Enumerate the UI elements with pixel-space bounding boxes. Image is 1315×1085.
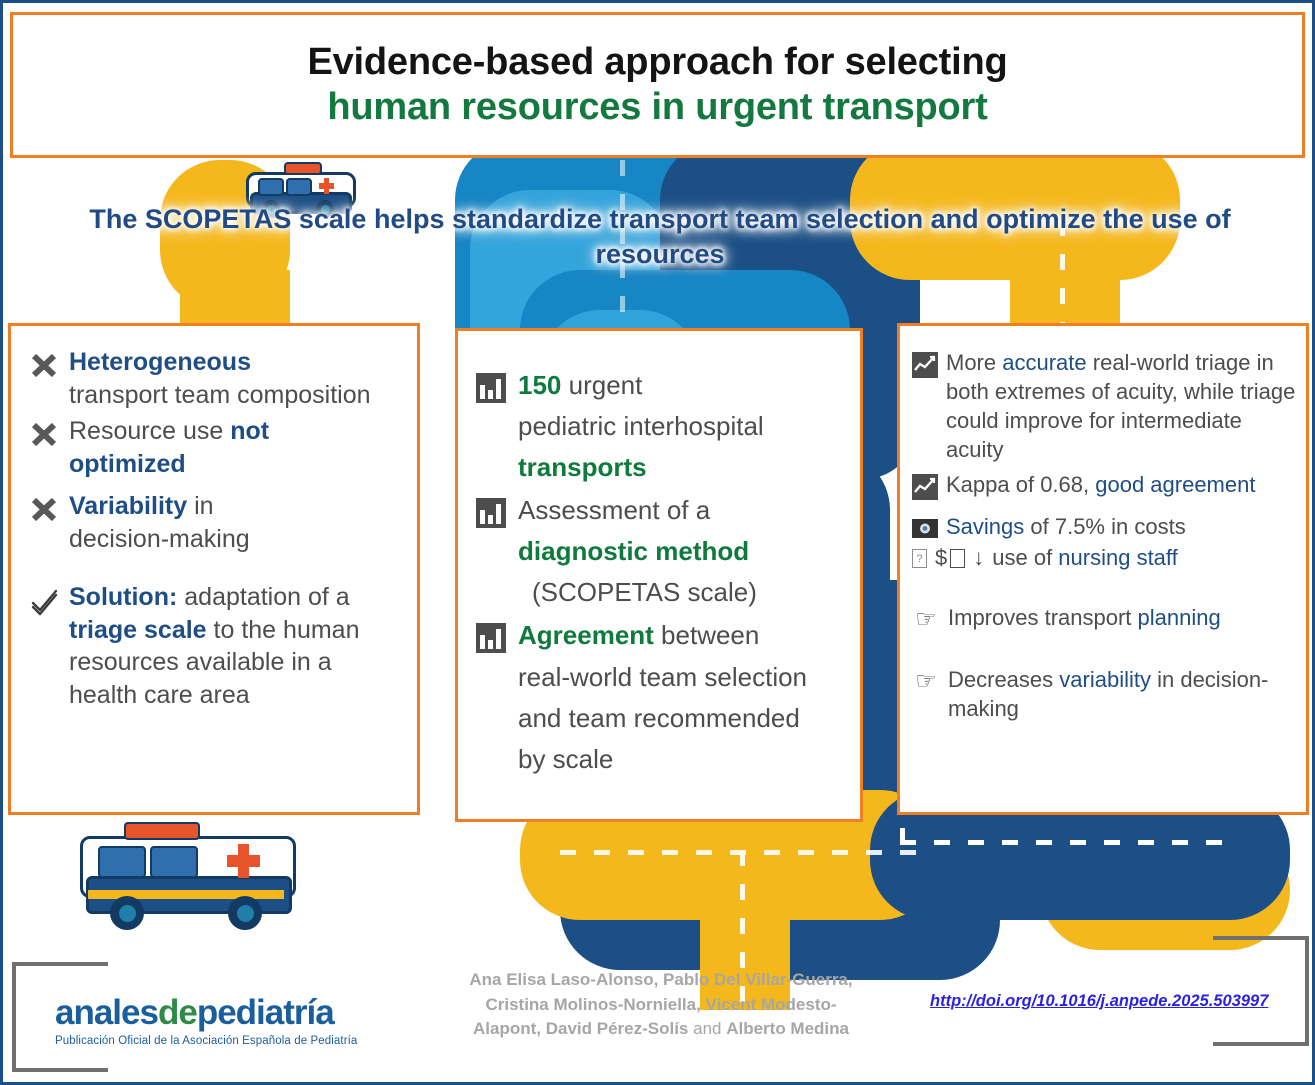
item-line-2: pediatric interhospital — [518, 411, 764, 441]
item-bold-text: Agreement — [518, 620, 654, 650]
item-line-3: transports — [518, 452, 647, 482]
logo-part-anales: anales — [55, 993, 158, 1032]
list-item: ☞ Decreases variability in decision-maki… — [912, 665, 1296, 723]
logo-part-de: de — [158, 993, 197, 1032]
bracket-decoration-right — [1213, 936, 1309, 1046]
item-highlight-text: variability — [1059, 667, 1151, 692]
bar-chart-icon — [476, 623, 506, 653]
item-pre-text: Decreases — [948, 667, 1059, 692]
journal-logo-subtitle: Publicación Oficial de la Asociación Esp… — [55, 1035, 357, 1047]
item-pre-text: Improves transport — [948, 605, 1138, 630]
authors-last: Alberto Medina — [726, 1019, 849, 1038]
item-highlight-text: planning — [1138, 605, 1221, 630]
panel-methods: 150 urgentpediatric interhospitaltranspo… — [455, 328, 863, 822]
item-pre-text: More — [946, 350, 1002, 375]
list-item-text: Heterogeneoustransport team composition — [69, 346, 405, 411]
money-icon — [912, 519, 938, 538]
list-item-text: More accurate real-world triage in both … — [946, 348, 1296, 464]
list-item-text: Improves transport planning — [948, 603, 1296, 632]
ambulance-illustration-bottom — [70, 818, 310, 938]
count-value: 150 — [518, 370, 561, 400]
list-item: Resource use notoptimized — [29, 415, 405, 480]
solution-item: Solution: adaptation of a triage scale t… — [29, 581, 405, 711]
item-line-2: optimized — [69, 450, 186, 478]
list-item: ☞ Improves transport planning — [912, 603, 1296, 633]
list-item-text: Assessment of adiagnostic method(SCOPETA… — [518, 490, 846, 613]
pointing-hand-icon: ☞ — [912, 607, 940, 633]
list-item-text: Decreases variability in decision-making — [948, 665, 1296, 723]
list-item-text: Savings of 7.5% in costs — [946, 512, 1296, 541]
solution-label: Solution: — [69, 583, 177, 611]
item-line-2: transport team composition — [69, 381, 371, 409]
list-item: 150 urgentpediatric interhospitaltranspo… — [476, 365, 846, 488]
currency-glyph-icon: $ — [935, 545, 965, 571]
line-chart-icon — [912, 352, 938, 378]
list-item: Assessment of adiagnostic method(SCOPETA… — [476, 490, 846, 613]
authors-list: Ana Elisa Laso-Alonso, Pablo Del Villar-… — [466, 968, 856, 1042]
list-item-text: 150 urgentpediatric interhospitaltranspo… — [518, 365, 846, 488]
item-line-2: diagnostic method — [518, 536, 749, 566]
solution-text-a: adaptation of a — [177, 583, 349, 611]
item-bold-text: Variability — [69, 492, 187, 520]
list-item-text: Variability indecision-making — [69, 490, 405, 555]
list-item: Savings of 7.5% in costs — [912, 512, 1296, 541]
journal-logo: analesdepediatría Publicación Oficial de… — [55, 995, 357, 1047]
list-item: Variability indecision-making — [29, 490, 405, 555]
title-box: Evidence-based approach for selecting hu… — [10, 12, 1305, 158]
panel-results: More accurate real-world triage in both … — [897, 323, 1309, 815]
list-item: More accurate real-world triage in both … — [912, 348, 1296, 464]
bar-chart-icon — [476, 498, 506, 528]
bar-chart-icon — [476, 373, 506, 403]
item-highlight-text: nursing staff — [1058, 545, 1177, 570]
item-highlight-text: Savings — [946, 514, 1024, 539]
count-suffix: urgent — [561, 370, 642, 400]
list-item: Agreement betweenreal-world team selecti… — [476, 615, 846, 779]
item-pre-text: Kappa of 0.68, — [946, 472, 1095, 497]
title-line-1: Evidence-based approach for selecting — [307, 40, 1007, 85]
check-mark-icon — [29, 587, 59, 617]
item-highlight-text: accurate — [1002, 350, 1086, 375]
authors-conjunction: and — [688, 1019, 726, 1038]
item-line-2: decision-making — [69, 525, 250, 553]
logo-part-pediatria: pediatría — [197, 993, 334, 1032]
cross-mark-icon — [29, 350, 59, 380]
cross-mark-icon — [29, 494, 59, 524]
item-highlight-text: good agreement — [1095, 472, 1255, 497]
list-item: Heterogeneoustransport team composition — [29, 346, 405, 411]
item-line-3: and team recommended — [518, 703, 800, 733]
list-item-text: Kappa of 0.68, good agreement — [946, 470, 1296, 499]
item-pre-text: use of — [992, 545, 1058, 570]
panel-problem: Heterogeneoustransport team composition … — [8, 323, 420, 815]
line-chart-icon — [912, 474, 938, 500]
list-item-text: Agreement betweenreal-world team selecti… — [518, 615, 846, 779]
cross-mark-icon — [29, 419, 59, 449]
item-bold-text: not — [230, 417, 269, 445]
list-item-text: use of nursing staff — [992, 545, 1178, 571]
item-line-4: by scale — [518, 744, 613, 774]
pointing-hand-icon: ☞ — [912, 669, 940, 695]
item-rest-text: in — [187, 492, 213, 520]
solution-text: Solution: adaptation of a triage scale t… — [69, 581, 405, 711]
list-item: ? $ ↓ use of nursing staff — [912, 545, 1296, 571]
solution-bold-b: triage scale — [69, 616, 207, 644]
item-line-3: (SCOPETAS scale) — [518, 577, 757, 607]
list-item: Kappa of 0.68, good agreement — [912, 470, 1296, 500]
item-after-bold: between — [654, 620, 760, 650]
missing-glyph-icon: ? — [912, 549, 927, 568]
title-line-2: human resources in urgent transport — [327, 85, 987, 130]
item-line-2: real-world team selection — [518, 662, 807, 692]
list-item-text: Resource use notoptimized — [69, 415, 405, 480]
item-pre-text: Resource use — [69, 417, 230, 445]
down-arrow-icon: ↓ — [973, 545, 984, 571]
doi-link[interactable]: http://doi.org/10.1016/j.anpede.2025.503… — [930, 992, 1268, 1011]
item-bold-text: Heterogeneous — [69, 348, 251, 376]
journal-logo-wordmark: analesdepediatría — [55, 995, 357, 1030]
item-line-1: Assessment of a — [518, 495, 710, 525]
item-post-text: of 7.5% in costs — [1024, 514, 1185, 539]
subtitle: The SCOPETAS scale helps standardize tra… — [45, 202, 1275, 271]
